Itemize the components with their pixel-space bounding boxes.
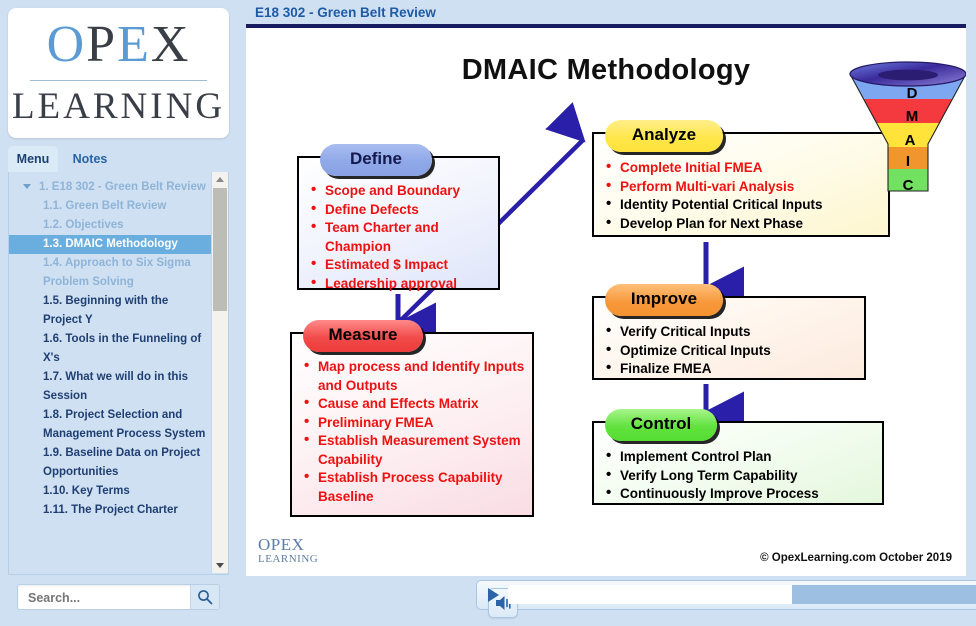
slide-footer-logo: OPEX LEARNING	[258, 537, 338, 566]
phase-bullets-measure: Map process and Identify Inputs and Outp…	[292, 352, 532, 510]
search-button[interactable]	[190, 585, 219, 609]
bullet-improve-1: Optimize Critical Inputs	[620, 342, 858, 361]
scrollbar-thumb[interactable]	[213, 188, 227, 311]
brand-logo: OPEX LEARNING	[8, 8, 229, 138]
sidebar: OPEX LEARNING Menu Notes 1. E18 302 - Gr…	[0, 0, 238, 626]
search-icon	[197, 589, 213, 605]
transport-bar	[476, 580, 976, 610]
phase-bullets-define: Scope and BoundaryDefine DefectsTeam Cha…	[299, 176, 498, 297]
menu-item-label: 1.10. Key Terms	[43, 485, 130, 497]
bullet-define-3: Estimated $ Impact	[325, 256, 492, 275]
dmaic-funnel-graphic: D M A I C	[846, 60, 966, 200]
menu-item-label: 1.2. Objectives	[43, 219, 124, 231]
logo-divider	[30, 80, 207, 81]
bullet-analyze-2: Identity Potential Critical Inputs	[620, 196, 882, 215]
footer-logo-learning: LEARNING	[258, 553, 338, 566]
funnel-letter-i: I	[906, 153, 910, 170]
funnel-letter-c: C	[903, 177, 914, 194]
bullet-analyze-1: Perform Multi-vari Analysis	[620, 178, 882, 197]
menu-item-label: 1.8. Project Selection and Management Pr…	[43, 409, 205, 440]
bullet-define-4: Leadership approval	[325, 275, 492, 294]
bullet-define-1: Define Defects	[325, 201, 492, 220]
menu-item-3[interactable]: 1.3. DMAIC Methodology	[9, 235, 212, 254]
menu-item-1[interactable]: 1.1. Green Belt Review	[9, 197, 212, 216]
menu-item-0[interactable]: 1. E18 302 - Green Belt Review	[9, 178, 212, 197]
bullet-improve-2: Finalize FMEA	[620, 360, 858, 379]
search-input[interactable]	[26, 585, 185, 611]
menu-item-6[interactable]: 1.6. Tools in the Funneling of X's	[9, 330, 212, 368]
bullet-analyze-3: Develop Plan for Next Phase	[620, 215, 882, 234]
progress-bar[interactable]	[508, 585, 976, 604]
slide-canvas: DMAIC Methodology Define Scope and Bound…	[246, 24, 966, 576]
phase-box-improve: Improve Verify Critical InputsOptimize C…	[592, 296, 866, 380]
funnel-mouth	[878, 70, 938, 81]
bullet-control-0: Implement Control Plan	[620, 448, 876, 467]
menu-item-label: 1.7. What we will do in this Session	[43, 371, 188, 402]
phase-pill-control: Control	[605, 409, 717, 441]
tab-notes[interactable]: Notes	[62, 146, 118, 172]
bullet-measure-4: Establish Process Capability Baseline	[318, 469, 526, 506]
menu-panel: 1. E18 302 - Green Belt Review1.1. Green…	[8, 172, 229, 575]
menu-item-7[interactable]: 1.7. What we will do in this Session	[9, 368, 212, 406]
bullet-measure-0: Map process and Identify Inputs and Outp…	[318, 358, 526, 395]
menu-scrollbar[interactable]	[211, 172, 228, 573]
bullet-measure-2: Preliminary FMEA	[318, 414, 526, 433]
scroll-up-arrow-icon[interactable]	[212, 172, 228, 187]
funnel-letter-a: A	[905, 132, 916, 149]
menu-item-10[interactable]: 1.10. Key Terms	[9, 482, 212, 501]
menu-list: 1. E18 302 - Green Belt Review1.1. Green…	[9, 172, 212, 573]
phase-box-define: Define Scope and BoundaryDefine DefectsT…	[297, 156, 500, 290]
menu-item-label: 1. E18 302 - Green Belt Review	[39, 181, 206, 193]
footer-logo-opex: OPEX	[258, 537, 338, 553]
menu-item-label: 1.3. DMAIC Methodology	[43, 238, 178, 250]
menu-item-label: 1.5. Beginning with the Project Y	[43, 295, 168, 326]
menu-item-9[interactable]: 1.9. Baseline Data on Project Opportunit…	[9, 444, 212, 482]
bullet-define-2: Team Charter and Champion	[325, 219, 492, 256]
menu-item-8[interactable]: 1.8. Project Selection and Management Pr…	[9, 406, 212, 444]
menu-item-label: 1.1. Green Belt Review	[43, 200, 166, 212]
phase-pill-improve: Improve	[605, 284, 723, 316]
menu-item-label: 1.9. Baseline Data on Project Opportunit…	[43, 447, 200, 478]
sidebar-tabs: Menu Notes	[8, 146, 229, 172]
phase-box-measure: Measure Map process and Identify Inputs …	[290, 332, 534, 517]
phase-pill-define: Define	[320, 144, 432, 176]
search-area	[8, 580, 229, 616]
phase-pill-measure: Measure	[303, 320, 423, 352]
player-controls: ‹PREV	[476, 580, 976, 626]
play-icon	[488, 588, 499, 602]
menu-item-label: 1.4. Approach to Six Sigma Problem Solvi…	[43, 257, 191, 288]
menu-item-label: 1.11. The Project Charter	[43, 504, 178, 516]
bullet-improve-0: Verify Critical Inputs	[620, 323, 858, 342]
logo-opex-text: OPEX	[8, 14, 229, 76]
funnel-letter-m: M	[906, 108, 919, 125]
menu-item-4[interactable]: 1.4. Approach to Six Sigma Problem Solvi…	[9, 254, 212, 292]
expand-caret-icon[interactable]	[23, 184, 31, 189]
tab-menu[interactable]: Menu	[8, 146, 58, 172]
phase-bullets-improve: Verify Critical InputsOptimize Critical …	[594, 317, 864, 383]
course-title: E18 302 - Green Belt Review	[255, 5, 436, 20]
logo-learning-text: LEARNING	[8, 82, 229, 132]
play-button[interactable]	[484, 586, 502, 604]
bullet-control-1: Verify Long Term Capability	[620, 467, 876, 486]
search-box	[17, 584, 220, 610]
menu-item-2[interactable]: 1.2. Objectives	[9, 216, 212, 235]
phase-bullets-analyze: Complete Initial FMEAPerform Multi-vari …	[594, 153, 888, 237]
progress-fill	[508, 585, 792, 604]
menu-item-label: 1.6. Tools in the Funneling of X's	[43, 333, 201, 364]
copyright-text: © OpexLearning.com October 2019	[760, 552, 952, 564]
elearning-player-window: OPEX LEARNING Menu Notes 1. E18 302 - Gr…	[0, 0, 976, 626]
phase-pill-analyze: Analyze	[605, 120, 723, 152]
funnel-letter-d: D	[907, 85, 918, 102]
bullet-measure-1: Cause and Effects Matrix	[318, 395, 526, 414]
main-area: E18 302 - Green Belt Review DMAIC Method…	[238, 0, 976, 626]
menu-item-11[interactable]: 1.11. The Project Charter	[9, 501, 212, 520]
menu-item-5[interactable]: 1.5. Beginning with the Project Y	[9, 292, 212, 330]
bullet-analyze-0: Complete Initial FMEA	[620, 159, 882, 178]
bullet-define-0: Scope and Boundary	[325, 182, 492, 201]
bullet-measure-3: Establish Measurement System Capability	[318, 432, 526, 469]
phase-box-control: Control Implement Control PlanVerify Lon…	[592, 421, 884, 505]
bullet-control-2: Continuously Improve Process	[620, 485, 876, 504]
phase-bullets-control: Implement Control PlanVerify Long Term C…	[594, 442, 882, 508]
scroll-down-arrow-icon[interactable]	[212, 558, 228, 573]
